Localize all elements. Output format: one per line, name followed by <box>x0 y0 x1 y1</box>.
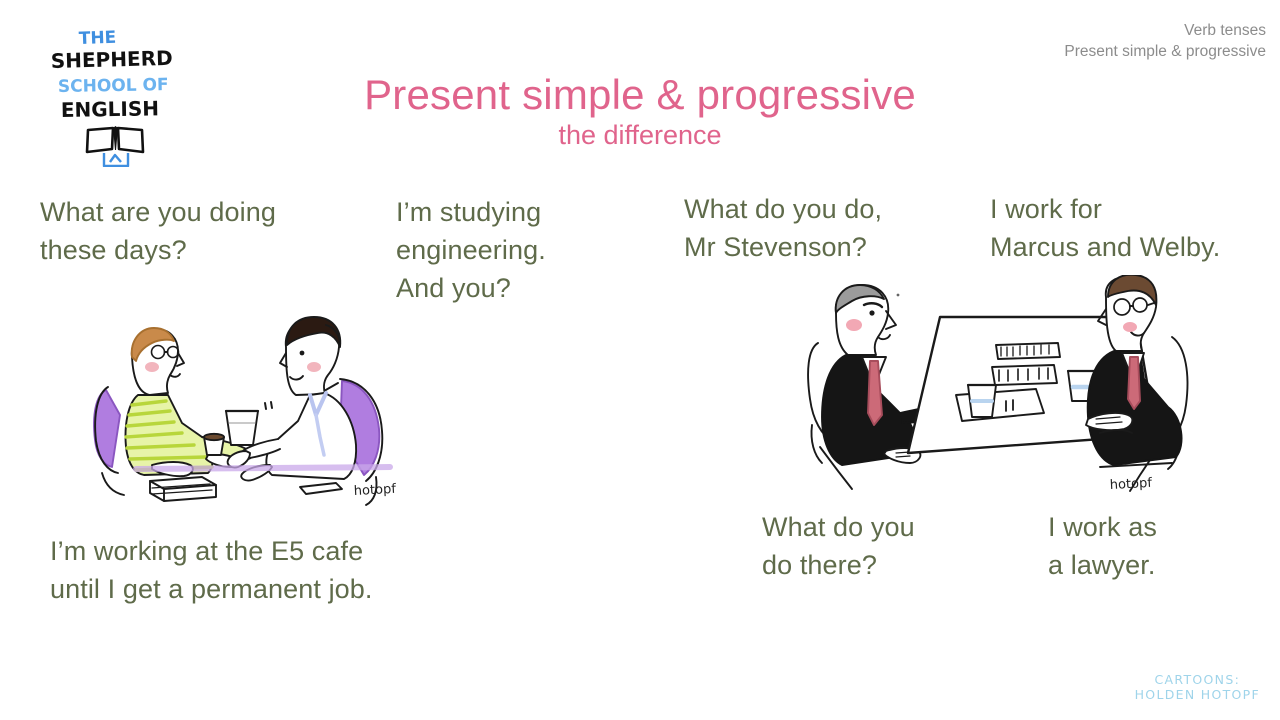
right-answer2-text: I work as a lawyer. <box>1048 508 1268 584</box>
right-answer-text: I work for Marcus and Welby. <box>990 190 1280 266</box>
left-caption-text: I’m working at the E5 cafe until I get a… <box>50 532 510 608</box>
left-answer-text: I’m studying engineering. And you? <box>396 193 626 307</box>
credit-line-2: HOLDEN HOTOPF <box>1135 687 1260 702</box>
logo-line-the: THE <box>78 28 116 49</box>
cartoon-signature-right: hotopf <box>1109 476 1152 493</box>
lesson-meta: Verb tenses Present simple & progressive <box>1064 20 1266 62</box>
page-subtitle: the difference <box>0 119 1280 151</box>
slide: THE SHEPHERD SCHOOL OF ENGLISH Verb tens… <box>0 0 1280 720</box>
credit-line-1: CARTOONS: <box>1135 672 1260 687</box>
office-interview-cartoon: hotopf <box>800 275 1200 505</box>
title-block: Present simple & progressive the differe… <box>0 72 1280 151</box>
right-question2-text: What do you do there? <box>762 508 992 584</box>
logo-line-shepherd: SHEPHERD <box>51 46 173 73</box>
right-question-text: What do you do, Mr Stevenson? <box>684 190 984 266</box>
meta-topic: Verb tenses <box>1064 20 1266 41</box>
meta-lesson: Present simple & progressive <box>1064 41 1266 62</box>
cartoon-signature-left: hotopf <box>353 482 396 499</box>
left-question-text: What are you doing these days? <box>40 193 385 269</box>
page-title: Present simple & progressive <box>0 72 1280 118</box>
cafe-conversation-cartoon: hotopf <box>90 295 430 520</box>
cartoon-credit: CARTOONS: HOLDEN HOTOPF <box>1135 672 1260 702</box>
book-stand-icon <box>104 153 128 166</box>
